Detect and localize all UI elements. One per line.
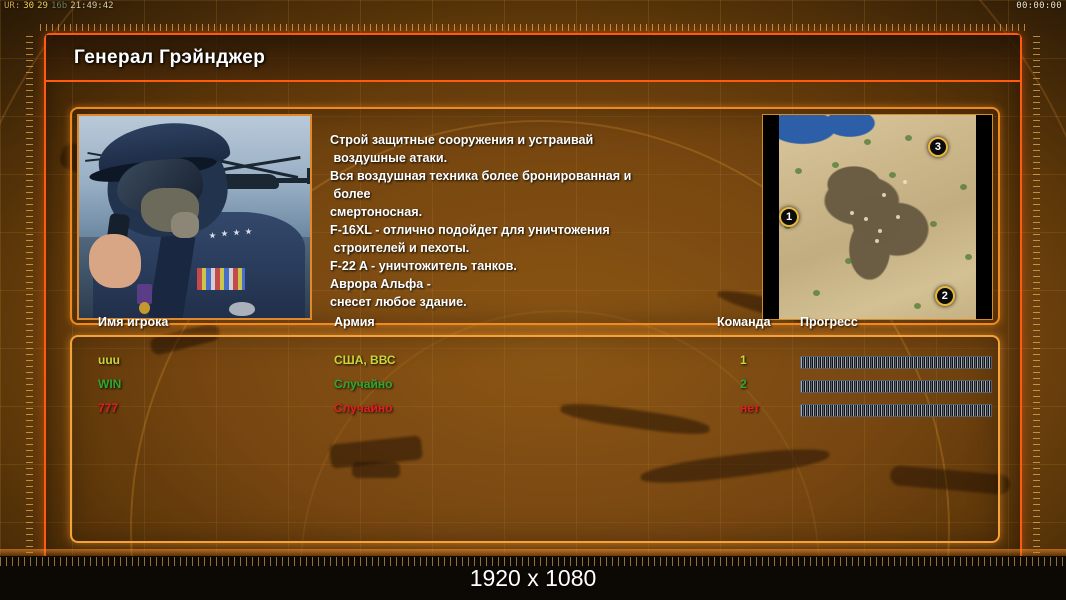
general-portrait: [77, 114, 312, 320]
readout-segment-5: 21:49:42: [70, 1, 113, 12]
minimap-vegetation: [965, 254, 972, 260]
player-team[interactable]: 2: [740, 377, 747, 391]
frame-ruler-left: [26, 36, 33, 564]
minimap-rock: [903, 180, 907, 184]
player-team[interactable]: 1: [740, 353, 747, 367]
description-line: Строй защитные сооружения и устраивай: [330, 131, 800, 149]
description-line: снесет любое здание.: [330, 293, 800, 311]
column-header-progress: Прогресс: [800, 315, 858, 329]
player-name: WIN: [98, 377, 121, 391]
player-progress-bar: [800, 356, 992, 369]
minimap-vegetation: [889, 172, 896, 178]
general-hand: [89, 234, 141, 288]
description-line: строителей и пехоты.: [330, 239, 800, 257]
loading-window: Генерал Грэйнджер: [44, 33, 1022, 563]
general-description: Строй защитные сооружения и устраивай во…: [330, 131, 800, 311]
minimap-rock: [896, 215, 900, 219]
service-ribbons: [197, 268, 245, 290]
description-line: Вся воздушная техника более бронированна…: [330, 167, 800, 185]
minimap-rock: [882, 193, 886, 197]
player-army[interactable]: Случайно: [334, 377, 392, 391]
player-team[interactable]: нет: [740, 401, 760, 415]
minimap-start-position-1[interactable]: 1: [779, 207, 799, 227]
player-progress-bar: [800, 404, 992, 417]
minimap-rock: [850, 211, 854, 215]
minimap-start-position-2[interactable]: 2: [935, 286, 955, 306]
frame-ruler-top: [40, 24, 1026, 31]
frame-ruler-right: [1033, 36, 1040, 564]
player-list-panel: Имя игрока Армия Команда Прогресс uuuСША…: [70, 335, 1000, 543]
game-screen: UR: 30 29 16b 21:49:42 00:00:00 Генерал …: [0, 0, 1066, 600]
minimap-vegetation: [914, 303, 921, 309]
readout-segment-4: 16b: [51, 1, 67, 12]
column-header-army: Армия: [334, 315, 375, 329]
command-badge-icon: [229, 302, 255, 316]
description-line: F-22 A - уничтожитель танков.: [330, 257, 800, 275]
player-progress-bar: [800, 380, 992, 393]
bottom-accent-strip: [0, 549, 1066, 556]
player-army[interactable]: США, ВВС: [334, 353, 396, 367]
minimap-vegetation: [832, 162, 839, 168]
description-line: смертоносная.: [330, 203, 800, 221]
window-titlebar: Генерал Грэйнджер: [46, 35, 1020, 82]
top-status-bar: UR: 30 29 16b 21:49:42 00:00:00: [0, 0, 1066, 13]
player-name: uuu: [98, 353, 120, 367]
oxygen-hose: [171, 212, 199, 238]
description-line: F-16XL - отлично подойдет для уничтожени…: [330, 221, 800, 239]
game-clock: 00:00:00: [1016, 1, 1062, 12]
readout-segment-2: 30: [23, 1, 34, 12]
progress-fill: [801, 357, 991, 368]
table-row[interactable]: WINСлучайно2: [72, 377, 998, 401]
resolution-label: 1920 x 1080: [0, 565, 1066, 592]
player-list-header: Имя игрока Армия Команда Прогресс: [72, 315, 998, 337]
progress-fill: [801, 405, 991, 416]
minimap-letterbox-left: [763, 115, 779, 319]
progress-fill: [801, 381, 991, 392]
helicopter-fin: [307, 168, 312, 184]
minimap-preview: 123: [762, 114, 993, 320]
general-info-panel: Строй защитные сооружения и устраивай во…: [70, 107, 1000, 325]
table-row[interactable]: 777Случайнонет: [72, 401, 998, 425]
helicopter-tail: [271, 178, 312, 183]
player-army[interactable]: Случайно: [334, 401, 392, 415]
description-line: Аврора Альфа -: [330, 275, 800, 293]
description-line: более: [330, 185, 800, 203]
description-line: воздушные атаки.: [330, 149, 800, 167]
purple-heart-medal-icon: [137, 284, 152, 304]
player-name: 777: [98, 401, 118, 415]
performance-readout: UR: 30 29 16b 21:49:42: [4, 1, 114, 12]
minimap-rock: [864, 217, 868, 221]
page-title: Генерал Грэйнджер: [74, 47, 265, 69]
readout-segment-3: 29: [37, 1, 48, 12]
minimap-letterbox-right: [976, 115, 992, 319]
minimap-rock: [878, 229, 882, 233]
readout-segment-1: UR:: [4, 1, 20, 12]
table-row[interactable]: uuuСША, ВВС1: [72, 353, 998, 377]
column-header-name: Имя игрока: [98, 315, 168, 329]
